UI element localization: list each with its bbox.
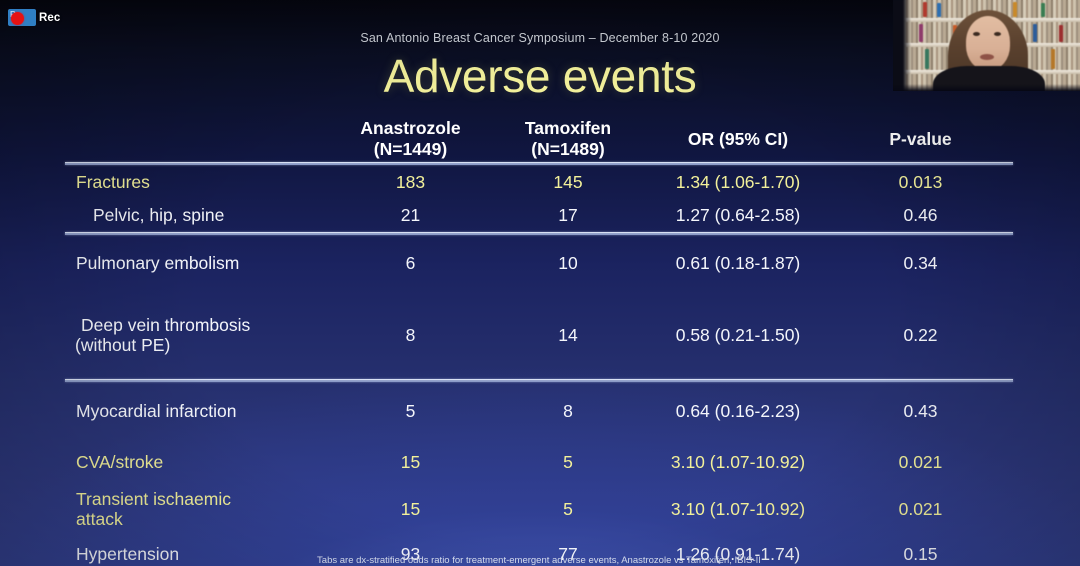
book-spine — [1013, 2, 1017, 17]
row-anastrozole-value: 6 — [333, 253, 488, 274]
row-pvalue: 0.46 — [828, 205, 1013, 226]
header-cell-or: OR (95% CI) — [648, 129, 828, 160]
book-spine — [919, 24, 923, 42]
row-tamoxifen-value: 10 — [488, 253, 648, 274]
row-anastrozole-value: 5 — [333, 401, 488, 422]
table-row: Transient ischaemic attack 15 5 3.10 (1.… — [65, 485, 1013, 533]
header-cell-pvalue: P-value — [828, 129, 1013, 160]
row-event-label: Transient ischaemic attack — [65, 489, 333, 530]
row-pvalue: 0.021 — [828, 452, 1013, 473]
row-event-label-line1: Deep vein thrombosis — [81, 315, 333, 335]
row-or-value: 3.10 (1.07-10.92) — [648, 499, 828, 520]
row-anastrozole-value: 183 — [333, 172, 488, 193]
row-pvalue: 0.021 — [828, 499, 1013, 520]
book-spine — [923, 2, 927, 17]
header-tamoxifen-label: Tamoxifen — [488, 118, 648, 139]
video-left-shadow — [893, 0, 911, 91]
row-event-label: CVA/stroke — [65, 452, 333, 472]
header-tamoxifen-n: (N=1489) — [488, 139, 648, 160]
table-row: Pelvic, hip, spine 21 17 1.27 (0.64-2.58… — [65, 199, 1013, 232]
row-anastrozole-value: 8 — [333, 325, 488, 346]
header-cell-anastrozole: Anastrozole (N=1449) — [333, 118, 488, 160]
table-row: Myocardial infarction 5 8 0.64 (0.16-2.2… — [65, 382, 1013, 440]
recording-label: Rec — [39, 12, 60, 24]
row-pvalue: 0.013 — [828, 172, 1013, 193]
row-anastrozole-value: 21 — [333, 205, 488, 226]
table-row: Fractures 183 145 1.34 (1.06-1.70) 0.013 — [65, 165, 1013, 199]
speaker-mouth — [980, 54, 994, 60]
row-pvalue: 0.22 — [828, 325, 1013, 346]
book-spine — [1041, 3, 1045, 17]
header-cell-tamoxifen: Tamoxifen (N=1489) — [488, 118, 648, 160]
row-tamoxifen-value: 5 — [488, 452, 648, 473]
record-badge-icon[interactable]: R — [8, 9, 36, 26]
presentation-screen: R Rec San Antonio Breast Cancer Symposiu… — [0, 0, 1080, 566]
book-spine — [937, 3, 941, 17]
table-row: CVA/stroke 15 5 3.10 (1.07-10.92) 0.021 — [65, 440, 1013, 485]
row-tamoxifen-value: 5 — [488, 499, 648, 520]
row-anastrozole-value: 15 — [333, 452, 488, 473]
row-or-value: 0.58 (0.21-1.50) — [648, 325, 828, 346]
speaker-face — [966, 16, 1010, 70]
row-event-label: Deep vein thrombosis (without PE) — [65, 315, 333, 356]
recording-indicator[interactable]: R Rec — [8, 9, 60, 26]
row-event-label-line2: attack — [76, 509, 333, 529]
table-row: Deep vein thrombosis (without PE) 8 14 0… — [65, 291, 1013, 379]
book-spine — [1051, 49, 1055, 69]
row-pvalue: 0.34 — [828, 253, 1013, 274]
row-tamoxifen-value: 145 — [488, 172, 648, 193]
book-spine — [1059, 25, 1063, 42]
row-event-label-line1: Transient ischaemic — [76, 489, 333, 509]
header-anastrozole-n: (N=1449) — [333, 139, 488, 160]
book-spine — [925, 49, 929, 69]
header-anastrozole-label: Anastrozole — [333, 118, 488, 139]
book-spine — [1033, 24, 1037, 42]
row-or-value: 1.34 (1.06-1.70) — [648, 172, 828, 193]
table-row: Pulmonary embolism 6 10 0.61 (0.18-1.87)… — [65, 235, 1013, 291]
row-tamoxifen-value: 14 — [488, 325, 648, 346]
speaker-eye-right — [994, 32, 1001, 36]
speaker-eye-left — [973, 32, 980, 36]
row-event-label: Fractures — [65, 172, 333, 192]
record-dot-icon — [11, 12, 24, 25]
row-anastrozole-value: 15 — [333, 499, 488, 520]
table-header-row: Anastrozole (N=1449) Tamoxifen (N=1489) … — [65, 110, 1013, 162]
row-event-label-line2: (without PE) — [75, 335, 333, 355]
row-or-value: 0.61 (0.18-1.87) — [648, 253, 828, 274]
adverse-events-table: Anastrozole (N=1449) Tamoxifen (N=1489) … — [65, 110, 1013, 566]
row-or-value: 3.10 (1.07-10.92) — [648, 452, 828, 473]
row-or-value: 0.64 (0.16-2.23) — [648, 401, 828, 422]
row-event-label: Myocardial infarction — [65, 401, 333, 421]
row-tamoxifen-value: 17 — [488, 205, 648, 226]
row-event-label: Pulmonary embolism — [65, 253, 333, 273]
row-tamoxifen-value: 8 — [488, 401, 648, 422]
speaker-video-thumbnail[interactable] — [893, 0, 1080, 91]
row-event-label: Pelvic, hip, spine — [65, 205, 333, 225]
row-or-value: 1.27 (0.64-2.58) — [648, 205, 828, 226]
row-pvalue: 0.43 — [828, 401, 1013, 422]
slide-footnote: Tabs are dx-stratified odds ratio for tr… — [65, 556, 1013, 566]
video-bottom-fade — [893, 84, 1080, 91]
